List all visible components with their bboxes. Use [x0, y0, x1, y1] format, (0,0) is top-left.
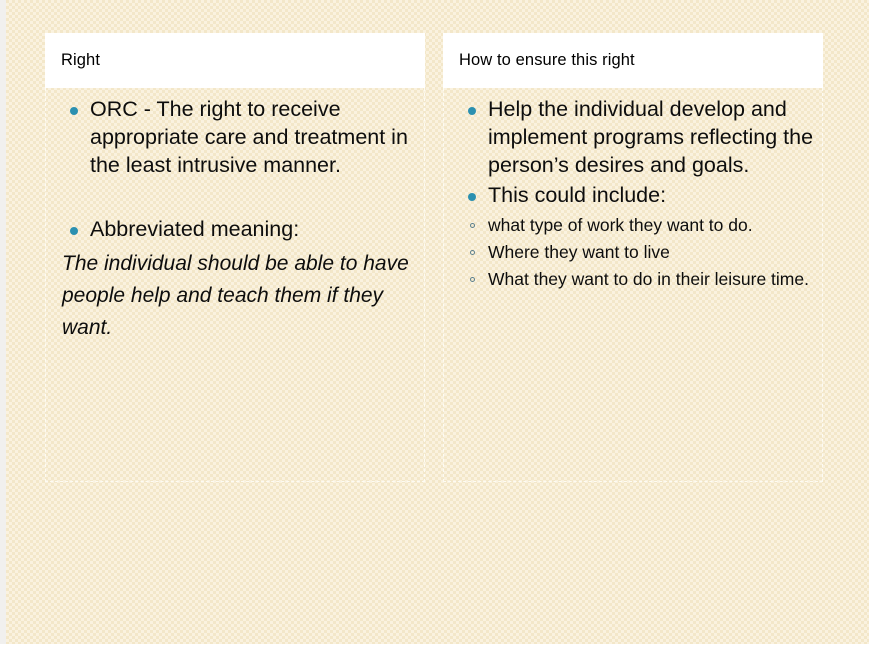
hollow-bullet-icon: [470, 250, 475, 255]
abbreviated-meaning-paragraph: The individual should be able to have pe…: [52, 248, 418, 344]
list-item: Where they want to live: [458, 241, 816, 263]
list-item: what type of work they want to do.: [458, 214, 816, 236]
hollow-bullet-icon: [470, 223, 475, 228]
list-item: Help the individual develop and implemen…: [450, 96, 816, 180]
list-item-text: This could include:: [488, 183, 666, 207]
list-item: This could include:: [450, 182, 816, 210]
bullet-dot-icon: [70, 227, 78, 235]
column-body-right: ORC - The right to receive appropriate c…: [45, 88, 425, 482]
bullet-list-right-second: Abbreviated meaning:: [52, 216, 418, 244]
column-body-how-to-ensure: Help the individual develop and implemen…: [443, 88, 823, 482]
bullet-list-right: ORC - The right to receive appropriate c…: [52, 96, 418, 180]
list-item-text: Abbreviated meaning:: [90, 217, 299, 241]
sub-bullet-list: what type of work they want to do. Where…: [458, 214, 816, 290]
comparison-table: Right ORC - The right to receive appropr…: [45, 33, 823, 482]
list-item-text: Help the individual develop and implemen…: [488, 97, 813, 177]
list-item-text: ORC - The right to receive appropriate c…: [90, 97, 408, 177]
bullet-dot-icon: [70, 107, 78, 115]
table-column-right: Right ORC - The right to receive appropr…: [45, 33, 425, 482]
list-item-text: what type of work they want to do.: [488, 215, 753, 235]
paragraph-spacer: [52, 182, 418, 216]
slide-bottom-edge-strip: [0, 644, 869, 655]
sub-bullet-group: what type of work they want to do. Where…: [450, 214, 816, 290]
bullet-dot-icon: [468, 107, 476, 115]
bullet-dot-icon: [468, 193, 476, 201]
column-header-label-right: Right: [61, 51, 100, 71]
bullet-list-how-to-ensure: Help the individual develop and implemen…: [450, 96, 816, 210]
list-item: Abbreviated meaning:: [52, 216, 418, 244]
hollow-bullet-icon: [470, 277, 475, 282]
slide-canvas: Right ORC - The right to receive appropr…: [0, 0, 869, 655]
list-item-text: What they want to do in their leisure ti…: [488, 269, 809, 289]
column-header-label-how-to-ensure: How to ensure this right: [459, 51, 635, 71]
column-header-cell-right: Right: [45, 33, 425, 88]
list-item: What they want to do in their leisure ti…: [458, 268, 816, 290]
table-column-how-to-ensure: How to ensure this right Help the indivi…: [443, 33, 823, 482]
column-header-cell-how-to-ensure: How to ensure this right: [443, 33, 823, 88]
list-item: ORC - The right to receive appropriate c…: [52, 96, 418, 180]
list-item-text: Where they want to live: [488, 242, 670, 262]
